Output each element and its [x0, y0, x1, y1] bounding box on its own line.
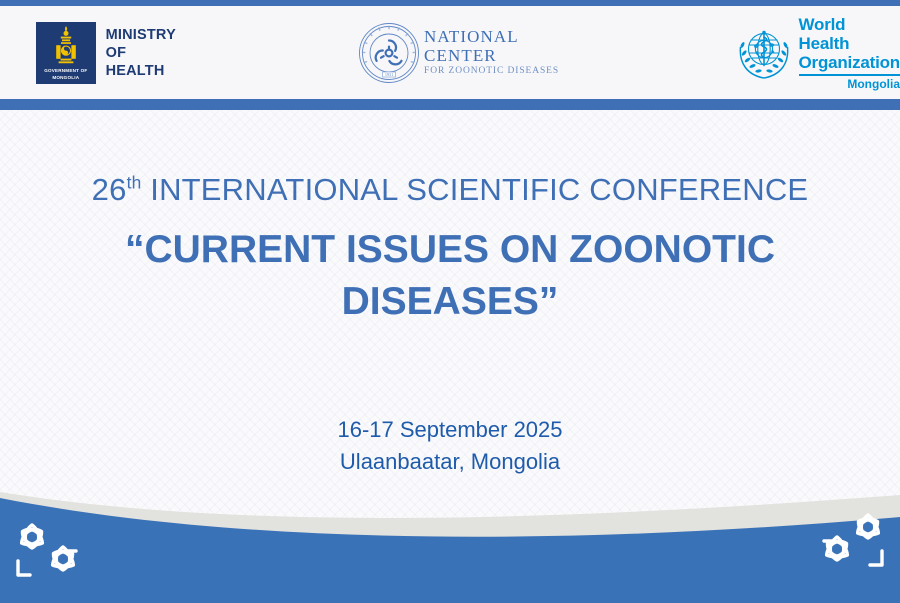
logo-national-center-zoonotic-diseases: 1931 NATIONAL CENTER FOR ZOONOTIC DISEAS…	[358, 22, 587, 84]
triquetra-knot-ornament-right	[806, 507, 890, 577]
conference-theme-title: “CURRENT ISSUES ON ZOONOTIC DISEASES”	[0, 224, 900, 328]
nczd-biohazard-seal: 1931	[358, 22, 420, 84]
logo-world-health-organization: World Health Organization Mongolia	[736, 15, 900, 91]
triquetra-knot-ornament-left	[10, 517, 94, 587]
footer-curve-decoration	[0, 443, 900, 603]
who-un-laurel-asclepius-emblem	[736, 25, 792, 81]
who-wordmark: World Health Organization Mongolia	[799, 15, 900, 91]
nczd-wordmark-line1: NATIONAL CENTER	[424, 27, 587, 65]
nczd-wordmark: NATIONAL CENTER FOR ZOONOTIC DISEASES	[424, 27, 587, 78]
conference-title-slide: GOVERNMENT OF MONGOLIA MINISTRY OF HEALT…	[0, 0, 900, 603]
who-wordmark-line1: World Health	[799, 15, 900, 53]
who-underline-rule	[799, 74, 900, 76]
ministry-wordmark-line1: MINISTRY	[106, 26, 186, 44]
emblem-caption-line2: MONGOLIA	[52, 75, 79, 81]
nczd-wordmark-line2: FOR ZOONOTIC DISEASES	[424, 65, 587, 78]
emblem-caption-line1: GOVERNMENT OF	[44, 68, 87, 74]
who-country-office: Mongolia	[799, 78, 900, 91]
ministry-wordmark-line2: OF HEALTH	[106, 44, 186, 80]
title-block: 26th INTERNATIONAL SCIENTIFIC CONFERENCE…	[0, 170, 900, 328]
logo-row: GOVERNMENT OF MONGOLIA MINISTRY OF HEALT…	[0, 6, 900, 99]
mongolia-soyombo-emblem: GOVERNMENT OF MONGOLIA	[36, 22, 96, 84]
logo-ministry-of-health: GOVERNMENT OF MONGOLIA MINISTRY OF HEALT…	[36, 22, 186, 84]
header-divider-rule	[0, 99, 900, 110]
conference-heading: 26th INTERNATIONAL SCIENTIFIC CONFERENCE	[0, 170, 900, 210]
seal-year: 1931	[385, 72, 393, 77]
conference-ordinal-suffix: th	[127, 173, 142, 193]
who-wordmark-line2: Organization	[799, 53, 900, 72]
conference-number: 26	[92, 172, 127, 207]
ministry-wordmark: MINISTRY OF HEALTH	[106, 26, 186, 80]
conference-heading-rest: INTERNATIONAL SCIENTIFIC CONFERENCE	[141, 172, 808, 207]
event-dates: 16-17 September 2025	[0, 414, 900, 446]
